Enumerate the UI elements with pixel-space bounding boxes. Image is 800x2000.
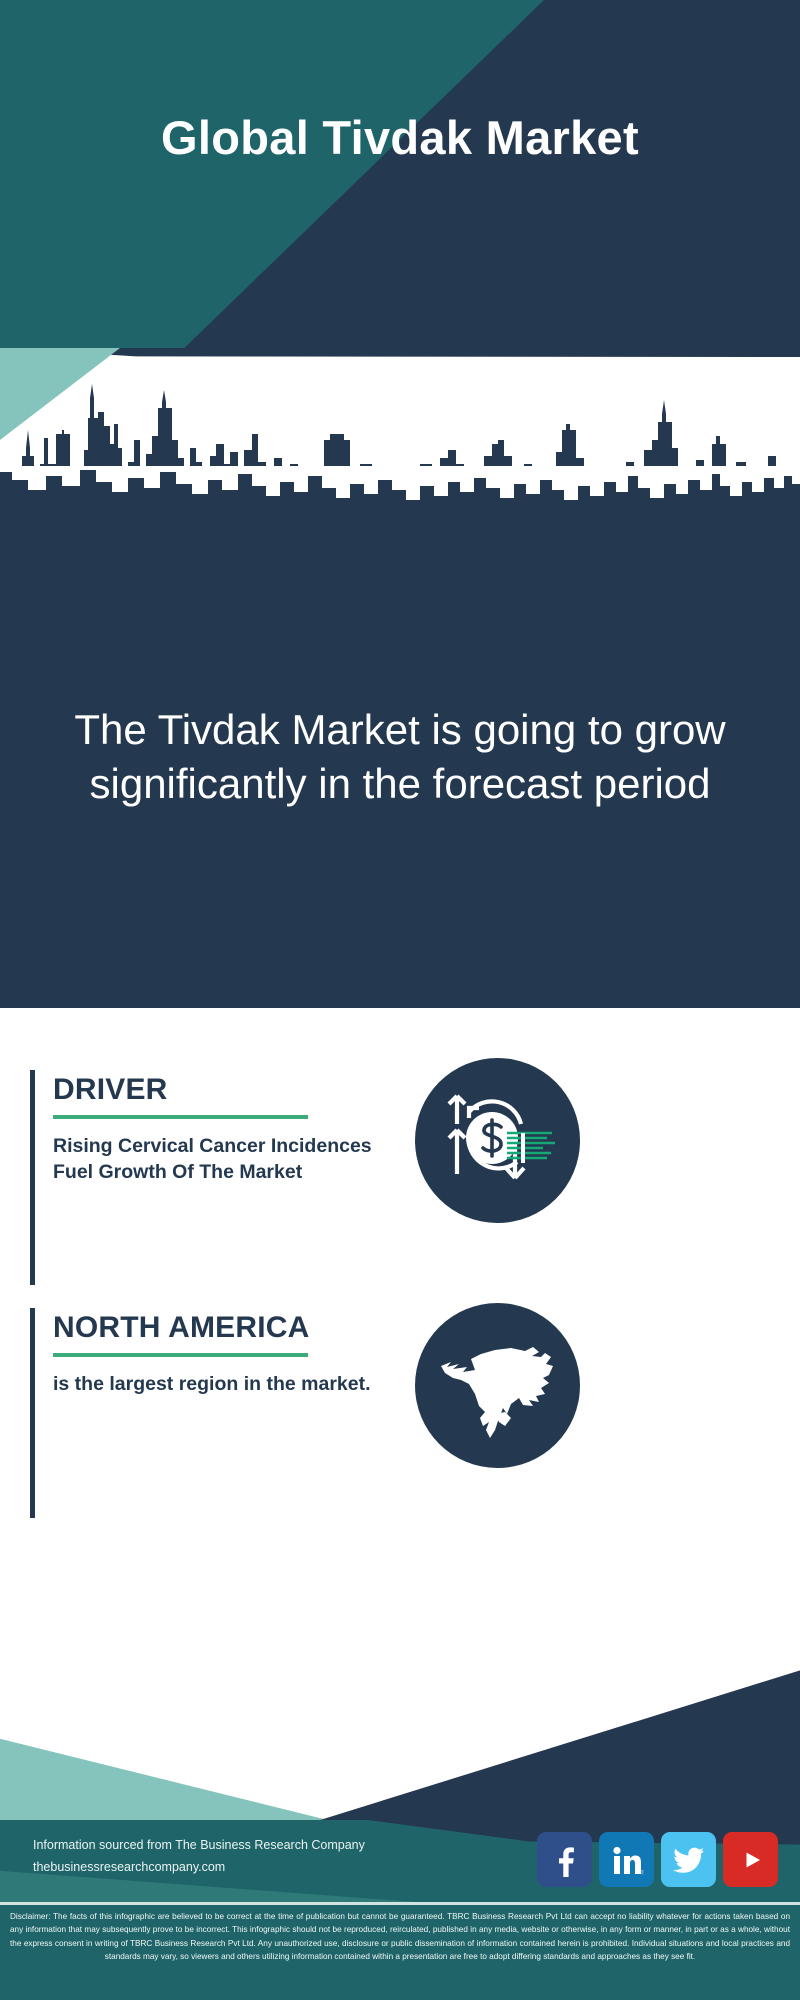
facebook-icon[interactable] xyxy=(537,1832,592,1887)
header-banner: Global Tivdak Market xyxy=(0,0,800,356)
infographic-page: Global Tivdak Market The Tivdak Market i… xyxy=(0,0,800,2000)
insight-body-driver: Rising Cervical Cancer Incidences Fuel G… xyxy=(53,1133,383,1187)
linkedin-icon[interactable]: TM xyxy=(599,1832,654,1887)
footer-decorative-shapes xyxy=(0,1640,800,1830)
social-links: TM xyxy=(537,1832,778,1887)
insight-underline xyxy=(53,1115,308,1119)
north-america-map-icon xyxy=(415,1303,580,1468)
insight-underline xyxy=(53,1353,308,1357)
disclaimer-top-divider xyxy=(0,1902,800,1905)
twitter-icon[interactable] xyxy=(661,1832,716,1887)
insight-heading-driver: DRIVER xyxy=(53,1074,770,1106)
statement-text: The Tivdak Market is going to grow signi… xyxy=(60,466,740,1008)
footer-website-line[interactable]: thebusinessresearchcompany.com xyxy=(33,1856,365,1878)
page-title: Global Tivdak Market xyxy=(0,0,800,356)
insight-block-driver: DRIVER Rising Cervical Cancer Incidences… xyxy=(30,1070,770,1285)
insight-block-region: NORTH AMERICA is the largest region in t… xyxy=(30,1308,770,1518)
disclaimer-bar: Disclaimer: The facts of this infographi… xyxy=(0,1902,800,2000)
footer-bar: Information sourced from The Business Re… xyxy=(0,1820,800,1902)
youtube-icon[interactable] xyxy=(723,1832,778,1887)
insights-section: DRIVER Rising Cervical Cancer Incidences… xyxy=(0,1008,800,1648)
statement-block: The Tivdak Market is going to grow signi… xyxy=(0,466,800,1008)
dollar-growth-icon xyxy=(415,1058,580,1223)
insight-body-region: is the largest region in the market. xyxy=(53,1371,383,1398)
footer-attribution: Information sourced from The Business Re… xyxy=(33,1834,365,1879)
svg-text:TM: TM xyxy=(640,1870,644,1876)
insight-heading-region: NORTH AMERICA xyxy=(53,1312,770,1344)
disclaimer-text: Disclaimer: The facts of this infographi… xyxy=(10,1910,790,1963)
north-america-map-svg xyxy=(433,1326,563,1446)
footer-source-line: Information sourced from The Business Re… xyxy=(33,1834,365,1856)
dollar-growth-icon-svg xyxy=(435,1078,560,1203)
